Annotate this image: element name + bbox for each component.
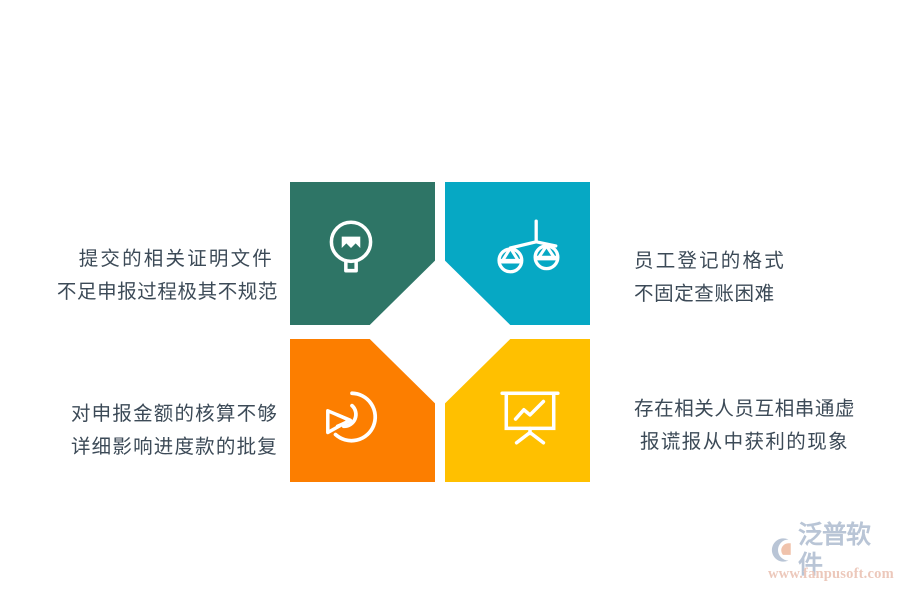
caption-top-left-line2: 不足申报过程极其不规范	[57, 276, 278, 309]
lightbulb-icon	[318, 215, 384, 281]
caption-top-left-line1: 提交的相关证明文件	[57, 243, 278, 276]
caption-bottom-right: 存在相关人员互相串通虚 报谎报从中获利的现象	[634, 393, 855, 459]
fanpu-logo-mark-icon	[766, 535, 796, 565]
tile-top-right[interactable]	[445, 182, 590, 325]
logo-row: 泛普软件	[766, 532, 892, 568]
caption-top-right: 员工登记的格式 不固定查账困难	[634, 245, 786, 311]
caption-bottom-left: 对申报金额的核算不够 详细影响进度款的批复	[71, 398, 278, 464]
tile-top-left[interactable]	[290, 182, 435, 325]
caption-top-left: 提交的相关证明文件 不足申报过程极其不规范	[57, 243, 278, 309]
logo-website-url: www.fanpusoft.com	[766, 566, 892, 583]
presentation-chart-icon	[497, 384, 563, 450]
caption-bottom-left-line2: 详细影响进度款的批复	[71, 431, 278, 464]
caption-bottom-right-line2: 报谎报从中获利的现象	[634, 426, 855, 459]
pie-chart-icon	[318, 384, 384, 450]
poster-canvas: 提交的相关证明文件 不足申报过程极其不规范 员工登记的格式 不固定查账困难 对申…	[0, 0, 900, 600]
balance-scale-icon	[497, 215, 563, 281]
watermark-logo: 泛普软件 www.fanpusoft.com	[766, 532, 892, 588]
caption-top-right-line1: 员工登记的格式	[634, 245, 786, 278]
tile-cluster	[290, 182, 590, 482]
caption-bottom-right-line1: 存在相关人员互相串通虚	[634, 393, 855, 426]
tile-bottom-left[interactable]	[290, 339, 435, 482]
caption-top-right-line2: 不固定查账困难	[634, 278, 786, 311]
caption-bottom-left-line1: 对申报金额的核算不够	[71, 398, 278, 431]
tile-bottom-right[interactable]	[445, 339, 590, 482]
